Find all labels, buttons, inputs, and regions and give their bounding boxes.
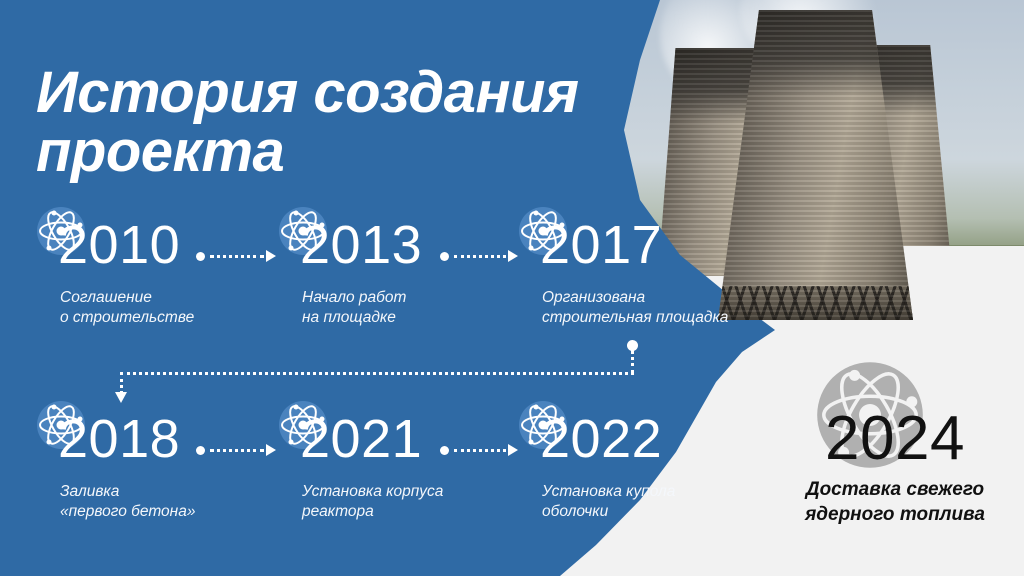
timeline-description: Установка купола оболочки [542, 482, 675, 523]
connector-dotted-line [454, 255, 506, 261]
timeline-description: Заливка «первого бетона» [60, 482, 195, 523]
timeline-description: Соглашение о строительстве [60, 288, 194, 329]
timeline-year: 2017 [540, 218, 662, 272]
timeline-description: Организована строительная площадка [542, 288, 728, 329]
connector-dotted-line [631, 350, 637, 374]
arrow-head-icon [115, 392, 127, 403]
connector-dotted-line [454, 449, 506, 455]
timeline-description: Начало работ на площадке [302, 288, 406, 329]
connector-start-dot [196, 446, 205, 455]
connector-start-dot [440, 446, 449, 455]
connector-dotted-line [210, 255, 264, 261]
timeline-year: 2010 [58, 218, 180, 272]
connector-dotted-line [210, 449, 264, 455]
connector-2018-to-2021 [196, 444, 278, 456]
slide-root: История создания проекта 2010 [0, 0, 1024, 576]
connector-2010-to-2013 [196, 250, 278, 262]
timeline-description: Установка корпуса реактора [302, 482, 443, 523]
timeline-year: 2022 [540, 412, 662, 466]
arrow-head-icon [266, 444, 276, 456]
connector-2021-to-2022 [440, 444, 520, 456]
connector-2013-to-2017 [440, 250, 520, 262]
timeline-year: 2013 [300, 218, 422, 272]
connector-start-dot [196, 252, 205, 261]
arrow-head-icon [508, 250, 518, 262]
arrow-head-icon [266, 250, 276, 262]
arrow-head-icon [508, 444, 518, 456]
connector-dotted-line [120, 372, 634, 378]
timeline-year: 2018 [58, 412, 180, 466]
timeline-item-2024[interactable]: 2024 Доставка свежего ядерного топлива [780, 360, 1010, 527]
timeline-description: Доставка свежего ядерного топлива [780, 478, 1010, 527]
timeline-year: 2024 [780, 408, 1010, 470]
timeline-year: 2021 [300, 412, 422, 466]
connector-start-dot [440, 252, 449, 261]
connector-dotted-line [120, 372, 126, 394]
